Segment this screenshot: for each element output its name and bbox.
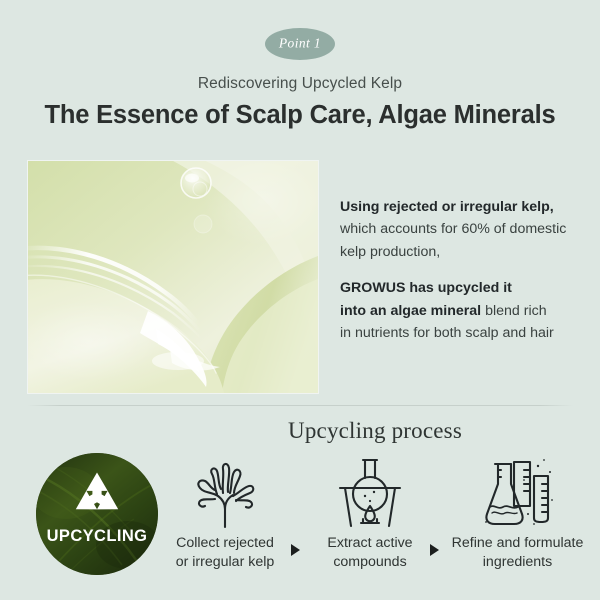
copy-p2-line2-rest: blend rich [481,303,546,319]
process-step-3-label: Refine and formulate ingredients [452,534,584,572]
process-step-3: Refine and formulate ingredients [445,452,590,584]
seaweed-icon [188,452,262,534]
copy-p1-line3: kelp production, [340,244,440,260]
process-steps: Collect rejected or irregular kelp [160,452,584,584]
promo-page: Point 1 Rediscovering Upcycled Kelp The … [0,0,600,600]
lab-glassware-icon [478,452,558,534]
process-step-1-label: Collect rejected or irregular kelp [176,534,275,572]
hero-image [28,161,318,393]
copy-p2-line3: in nutrients for both scalp and hair [340,325,554,341]
step-1-line1: Collect rejected [176,535,274,551]
step-arrow-1 [291,544,300,556]
copy-paragraph-2: GROWUS has upcycled it into an algae min… [340,277,580,344]
step-arrow-2 [430,544,439,556]
step-2-line1: Extract active [327,535,412,551]
step-2-line2: compounds [333,554,406,570]
step-1-line2: or irregular kelp [176,554,275,570]
process-step-2: Extract active compounds [305,452,435,584]
copy-p2-bold-line2: into an algae mineral [340,303,481,319]
page-title: The Essence of Scalp Care, Algae Mineral… [0,101,600,130]
process-step-2-label: Extract active compounds [327,534,412,572]
copy-paragraph-1: Using rejected or irregular kelp, which … [340,196,580,263]
copy-p1-bold: Using rejected or irregular kelp, [340,199,554,215]
section-divider [27,405,573,406]
step-3-line2: ingredients [483,554,552,570]
process-title: Upcycling process [150,418,600,444]
upcycling-badge: UPCYCLING [36,453,158,575]
body-copy: Using rejected or irregular kelp, which … [340,196,580,345]
upcycling-badge-graphic: UPCYCLING [36,453,158,575]
point-badge: Point 1 [265,28,335,60]
upcycling-badge-label: UPCYCLING [47,527,148,545]
process-step-1: Collect rejected or irregular kelp [160,452,290,584]
copy-p2-bold-line1: GROWUS has upcycled it [340,280,512,296]
flask-burner-icon [332,452,408,534]
paragraph-spacer [340,263,580,277]
step-3-line1: Refine and formulate [452,535,584,551]
point-badge-label: Point 1 [279,37,321,51]
copy-p1-line2: which accounts for 60% of domestic [340,221,566,237]
eyebrow-text: Rediscovering Upcycled Kelp [0,75,600,93]
hero-image-graphic [28,161,318,393]
